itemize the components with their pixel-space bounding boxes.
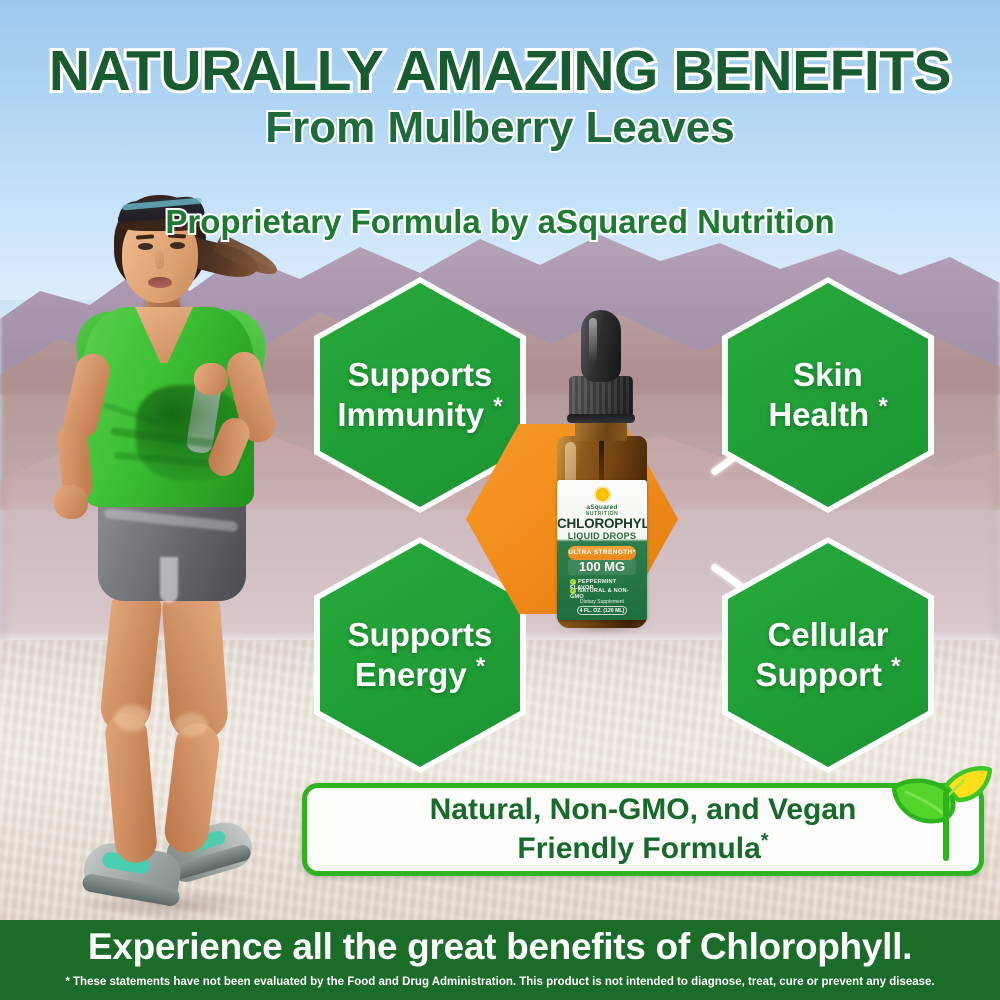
benefit-line2: Energy: [355, 656, 467, 693]
product-name-text: CHLOROPHYLL: [557, 516, 647, 531]
benefit-line1: Supports: [348, 616, 493, 653]
brand-logo: aSquared NUTRITION: [557, 485, 647, 517]
product-bottle-chlorophyll-drops[interactable]: aSquared NUTRITION CHLOROPHYLL LIQUID DR…: [543, 310, 661, 628]
benefit-line1: Skin: [793, 356, 863, 393]
bottle-neck: [575, 421, 627, 441]
page-tagline: Proprietary Formula by aSquared Nutritio…: [0, 203, 1000, 241]
benefit-label-energy: Supports Energy *: [338, 617, 503, 694]
footer-bar: Experience all the great benefits of Chl…: [0, 920, 1000, 1000]
runner-photo-woman-jogging: [18, 185, 308, 825]
asterisk-marker: *: [878, 393, 887, 420]
sprout-leaf-icon: [884, 752, 996, 864]
cap-shading: [569, 376, 633, 418]
brand-name: aSquared: [557, 504, 647, 511]
footer-disclaimer: * These statements have not been evaluat…: [0, 976, 1000, 988]
benefit-line2: Health: [768, 396, 869, 433]
banner-line1: Natural, Non-GMO, and Vegan: [430, 793, 857, 826]
banner-line2: Friendly Formula: [517, 832, 760, 865]
marketing-image-canvas: NATURALLY AMAZING BENEFITS From Mulberry…: [0, 0, 1000, 1000]
dose-amount: 100 MG: [568, 559, 636, 575]
asterisk-marker: *: [476, 653, 485, 680]
strength-badge: ULTRA STRENGTH*: [568, 546, 636, 560]
footer-headline: Experience all the great benefits of Chl…: [0, 926, 1000, 968]
benefit-line1: Supports: [348, 356, 493, 393]
benefit-line2: Support: [756, 656, 882, 693]
benefit-line1: Cellular: [767, 616, 888, 653]
benefit-label-skin: Skin Health *: [758, 357, 897, 434]
sunburst-icon: [596, 488, 609, 501]
asterisk-marker: *: [493, 393, 502, 420]
strength-label: ULTRA STRENGTH: [568, 549, 632, 556]
benefit-line2: Immunity: [337, 396, 484, 433]
cap-lip: [567, 414, 635, 423]
product-label: aSquared NUTRITION CHLOROPHYLL LIQUID DR…: [557, 480, 647, 620]
product-form-text: LIQUID DROPS: [557, 531, 647, 541]
natural-nongmo-vegan-banner[interactable]: Natural, Non-GMO, and Vegan Friendly For…: [302, 783, 984, 876]
volume-text: 4 FL. OZ. (120 ML): [577, 606, 627, 615]
asterisk-marker: *: [761, 830, 769, 852]
banner-text: Natural, Non-GMO, and Vegan Friendly For…: [430, 792, 857, 867]
benefit-label-immunity: Supports Immunity *: [327, 357, 512, 434]
benefit-label-cellular: Cellular Support *: [746, 617, 911, 694]
bulb-highlight: [589, 318, 597, 362]
asterisk-marker: *: [891, 653, 900, 680]
supplement-type-text: Dietary Supplement: [557, 599, 647, 605]
page-title: NATURALLY AMAZING BENEFITS: [0, 38, 1000, 104]
dropper-bulb: [581, 310, 621, 382]
page-subtitle: From Mulberry Leaves: [0, 103, 1000, 153]
strength-asterisk: *: [633, 549, 636, 556]
